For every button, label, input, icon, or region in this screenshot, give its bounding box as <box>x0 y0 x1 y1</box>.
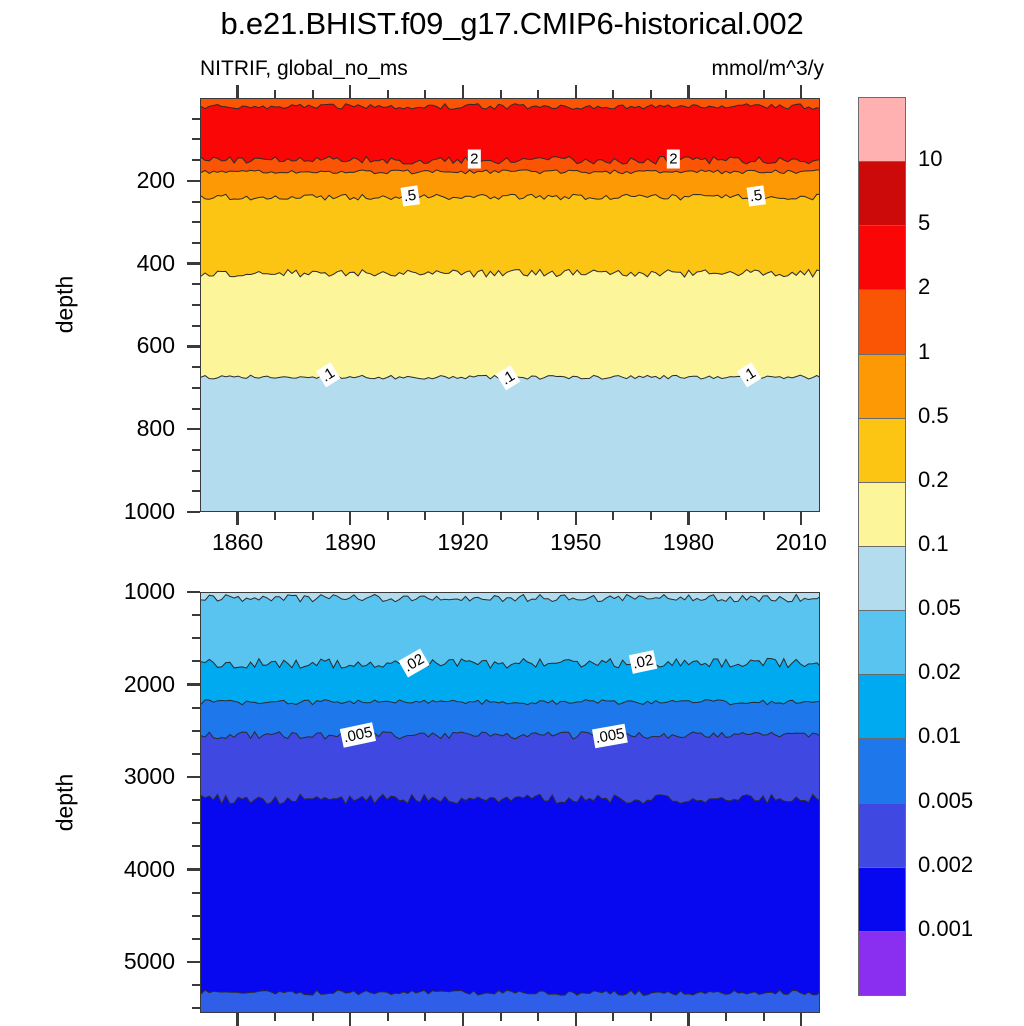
y-axis-minor-tick <box>192 915 200 917</box>
y-axis-minor-tick <box>192 118 200 120</box>
x-axis-tick <box>800 512 802 525</box>
colorbar-swatch <box>858 931 906 996</box>
x-axis-minor-tick <box>725 512 727 520</box>
y-axis-minor-tick <box>192 753 200 755</box>
units-label: mmol/m^3/y <box>711 57 824 81</box>
x-axis-top-tick <box>236 85 238 98</box>
x-axis-minor-tick <box>387 1013 389 1021</box>
y-axis-minor-tick <box>192 449 200 451</box>
y-axis-minor-tick <box>192 707 200 709</box>
x-axis-tick <box>236 512 238 525</box>
x-axis-top-tick <box>612 90 614 98</box>
x-axis-top-tick <box>650 90 652 98</box>
y-axis-minor-tick <box>192 159 200 161</box>
page-title: b.e21.BHIST.f09_g17.CMIP6-historical.002 <box>0 6 1024 42</box>
x-axis-top-tick <box>537 90 539 98</box>
colorbar-tick-label: 0.02 <box>918 659 961 685</box>
y-axis-minor-tick <box>192 242 200 244</box>
y-axis-tick <box>187 868 200 870</box>
colorbar-swatch <box>858 546 906 611</box>
x-axis-top-tick <box>387 90 389 98</box>
colorbar-swatch <box>858 97 906 162</box>
y-axis-tick <box>187 345 200 347</box>
contour-bands <box>201 593 820 1013</box>
x-axis-top-tick <box>687 85 689 98</box>
x-axis-minor-tick <box>274 512 276 520</box>
y-axis-minor-tick <box>192 221 200 223</box>
x-axis-minor-tick <box>424 1013 426 1021</box>
y-axis-tick <box>187 262 200 264</box>
colorbar-swatch <box>858 738 906 803</box>
y-axis-label: 800 <box>50 415 175 442</box>
x-axis-label: 2010 <box>751 529 851 556</box>
y-axis-minor-tick <box>192 614 200 616</box>
x-axis-minor-tick <box>650 512 652 520</box>
lower-depth-panel <box>200 592 820 1013</box>
colorbar-swatch <box>858 225 906 290</box>
x-axis-minor-tick <box>537 512 539 520</box>
colorbar-tick-label: 0.002 <box>918 852 973 878</box>
y-axis-minor-tick <box>192 304 200 306</box>
x-axis-top-tick <box>500 90 502 98</box>
x-axis-top-tick <box>462 85 464 98</box>
y-axis-minor-tick <box>192 366 200 368</box>
colorbar-tick-label: 10 <box>918 146 942 172</box>
y-axis-minor-tick <box>192 470 200 472</box>
y-axis-minor-tick <box>192 325 200 327</box>
colorbar-swatch <box>858 610 906 675</box>
y-axis-minor-tick <box>192 892 200 894</box>
y-axis-minor-tick <box>192 201 200 203</box>
colorbar-tick-label: 0.2 <box>918 467 949 493</box>
y-axis-tick <box>187 428 200 430</box>
x-axis-minor-tick <box>650 1013 652 1021</box>
y-axis-minor-tick <box>192 660 200 662</box>
x-axis-tick <box>462 1013 464 1026</box>
x-axis-tick <box>236 1013 238 1026</box>
x-axis-tick <box>687 1013 689 1026</box>
x-axis-minor-tick <box>424 512 426 520</box>
x-axis-label: 1950 <box>526 529 626 556</box>
y-axis-tick <box>187 961 200 963</box>
colorbar[interactable]: 105210.50.20.10.050.020.010.0050.0020.00… <box>858 97 906 995</box>
x-axis-top-tick <box>725 90 727 98</box>
colorbar-swatch <box>858 289 906 354</box>
x-axis-label: 1980 <box>638 529 738 556</box>
colorbar-tick-label: 5 <box>918 210 930 236</box>
x-axis-minor-tick <box>500 512 502 520</box>
x-axis-top-tick <box>312 90 314 98</box>
variable-label: NITRIF, global_no_ms <box>200 57 408 81</box>
plot-frame <box>200 98 820 512</box>
colorbar-tick-label: 0.01 <box>918 723 961 749</box>
y-axis-minor-tick <box>192 387 200 389</box>
upper-depth-panel <box>200 98 820 512</box>
colorbar-swatch <box>858 418 906 483</box>
y-axis-tick <box>187 180 200 182</box>
colorbar-swatch <box>858 354 906 419</box>
y-axis-title: depth <box>52 742 79 862</box>
y-axis-minor-tick <box>192 984 200 986</box>
contour-label: .5 <box>401 185 420 206</box>
y-axis-minor-tick <box>192 637 200 639</box>
x-axis-top-tick <box>800 85 802 98</box>
colorbar-swatch <box>858 803 906 868</box>
y-axis-minor-tick <box>192 283 200 285</box>
y-axis-label: 200 <box>50 167 175 194</box>
colorbar-swatch <box>858 867 906 932</box>
x-axis-minor-tick <box>763 512 765 520</box>
plot-frame <box>200 592 820 1013</box>
colorbar-swatch <box>858 482 906 547</box>
y-axis-minor-tick <box>192 845 200 847</box>
contour-label: .5 <box>747 185 766 206</box>
x-axis-tick <box>575 512 577 525</box>
y-axis-minor-tick <box>192 138 200 140</box>
x-axis-minor-tick <box>537 1013 539 1021</box>
y-axis-tick <box>187 776 200 778</box>
x-axis-top-tick <box>424 90 426 98</box>
y-axis-minor-tick <box>192 822 200 824</box>
colorbar-tick-label: 2 <box>918 274 930 300</box>
y-axis-tick <box>187 683 200 685</box>
y-axis-minor-tick <box>192 938 200 940</box>
colorbar-tick-label: 0.005 <box>918 788 973 814</box>
x-axis-tick <box>575 1013 577 1026</box>
x-axis-minor-tick <box>274 1013 276 1021</box>
x-axis-minor-tick <box>387 512 389 520</box>
colorbar-tick-label: 0.05 <box>918 595 961 621</box>
x-axis-label: 1920 <box>413 529 513 556</box>
x-axis-minor-tick <box>500 1013 502 1021</box>
colorbar-tick-label: 0.5 <box>918 403 949 429</box>
y-axis-minor-tick <box>192 490 200 492</box>
colorbar-tick-label: 0.1 <box>918 531 949 557</box>
colorbar-tick-label: 0.001 <box>918 916 973 942</box>
y-axis-minor-tick <box>192 730 200 732</box>
x-axis-tick <box>687 512 689 525</box>
x-axis-minor-tick <box>763 1013 765 1021</box>
x-axis-minor-tick <box>612 512 614 520</box>
contour-bands <box>201 99 820 512</box>
x-axis-top-tick <box>274 90 276 98</box>
y-axis-tick <box>187 511 200 513</box>
x-axis-label: 1890 <box>300 529 400 556</box>
x-axis-tick <box>349 512 351 525</box>
x-axis-top-tick <box>575 85 577 98</box>
x-axis-tick <box>800 1013 802 1026</box>
x-axis-minor-tick <box>312 1013 314 1021</box>
y-axis-label: 2000 <box>50 671 175 698</box>
colorbar-swatch <box>858 674 906 739</box>
colorbar-tick-label: 1 <box>918 339 930 365</box>
x-axis-top-tick <box>763 90 765 98</box>
x-axis-tick <box>349 1013 351 1026</box>
y-axis-label: 5000 <box>50 948 175 975</box>
x-axis-minor-tick <box>612 1013 614 1021</box>
colorbar-swatch <box>858 161 906 226</box>
y-axis-tick <box>187 591 200 593</box>
y-axis-title: depth <box>52 245 79 365</box>
contour-label: 2 <box>667 149 679 168</box>
x-axis-minor-tick <box>312 512 314 520</box>
y-axis-label: 1000 <box>50 498 175 525</box>
y-axis-label: 1000 <box>50 578 175 605</box>
x-axis-top-tick <box>349 85 351 98</box>
y-axis-minor-tick <box>192 799 200 801</box>
x-axis-label: 1860 <box>188 529 288 556</box>
x-axis-minor-tick <box>725 1013 727 1021</box>
y-axis-minor-tick <box>192 408 200 410</box>
contour-label: 2 <box>468 149 480 168</box>
y-axis-minor-tick <box>192 1007 200 1009</box>
x-axis-tick <box>462 512 464 525</box>
